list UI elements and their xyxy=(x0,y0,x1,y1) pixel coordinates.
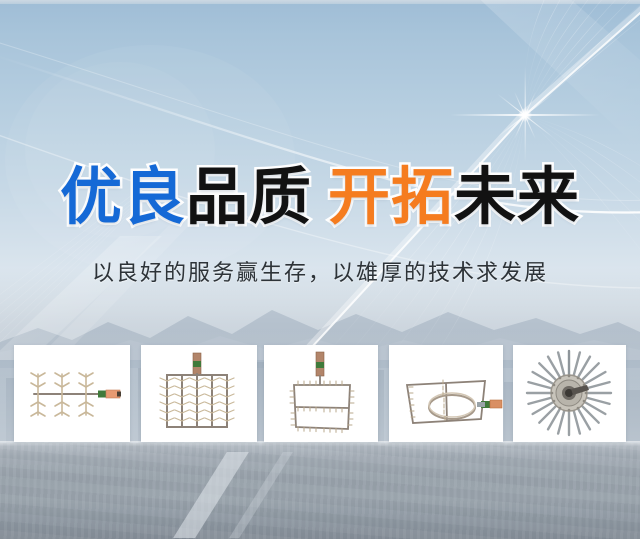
product-card[interactable] xyxy=(141,345,257,442)
plating-rack-comb-hooks-icon xyxy=(14,345,130,442)
plating-rack-rectangular-frame-icon xyxy=(264,345,378,442)
plating-rack-double-row-spikes-icon xyxy=(141,345,257,442)
product-card[interactable] xyxy=(14,345,130,442)
banner-stage: 优良品质开拓未来 以良好的服务赢生存，以雄厚的技术求发展 xyxy=(0,0,640,539)
product-card[interactable] xyxy=(264,345,378,442)
plating-rack-ring-frame-icon xyxy=(389,345,503,442)
plating-rack-radial-star-icon xyxy=(513,345,626,442)
product-card[interactable] xyxy=(389,345,503,442)
product-card[interactable] xyxy=(513,345,626,442)
product-card-row xyxy=(0,0,640,539)
